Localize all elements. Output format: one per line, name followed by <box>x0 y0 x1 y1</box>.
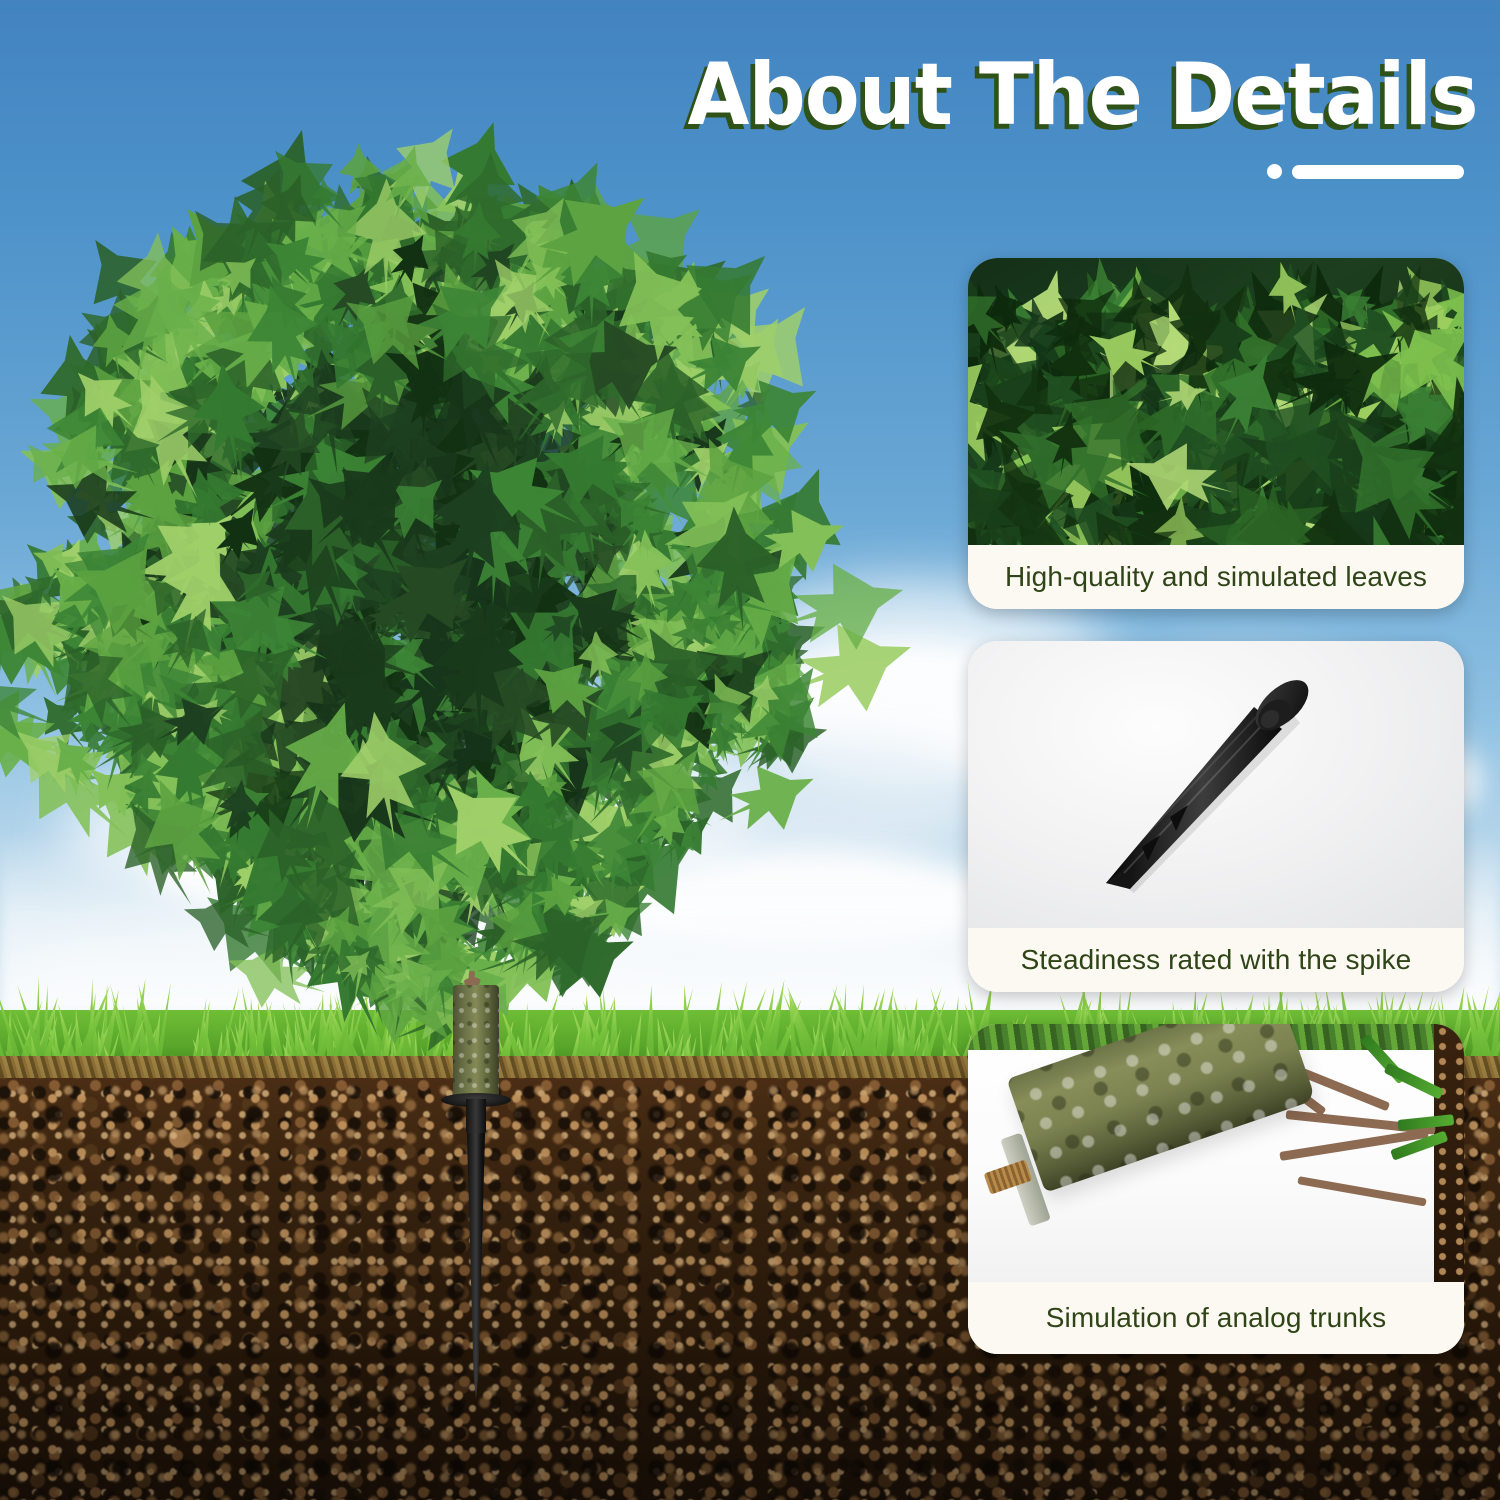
feature-caption-spike: Steadiness rated with the spike <box>968 928 1464 992</box>
feature-card-spike[interactable]: Steadiness rated with the spike <box>968 641 1464 992</box>
accent-dot-icon <box>1267 164 1282 179</box>
spike-top-band <box>466 1099 486 1133</box>
soil-strip <box>1434 1024 1464 1282</box>
feature-card-trunk[interactable]: Simulation of analog trunks <box>968 1024 1464 1354</box>
tree-canopy <box>20 120 820 1000</box>
spike-illustration <box>1086 667 1336 901</box>
foliage-sprig <box>216 778 263 845</box>
accent-bar-icon <box>1292 165 1464 179</box>
page-title: About The Details <box>688 52 1478 138</box>
title-accent <box>1267 164 1464 179</box>
foliage-sprig <box>185 358 273 477</box>
feature-card-list: High-quality and simulated leaves <box>968 258 1464 1386</box>
product-detail-infographic: About The Details High-quality and simul… <box>0 0 1500 1500</box>
foliage-macro-photo <box>968 258 1464 545</box>
spike-svg <box>1086 667 1336 907</box>
feature-caption-leaves: High-quality and simulated leaves <box>968 545 1464 609</box>
feature-card-leaves[interactable]: High-quality and simulated leaves <box>968 258 1464 609</box>
analog-trunk-macro-photo <box>968 1024 1464 1282</box>
hero-tree <box>20 120 820 1020</box>
tree-trunk-and-spike <box>435 975 515 1095</box>
feature-caption-trunk: Simulation of analog trunks <box>968 1282 1464 1354</box>
ground-spike-photo <box>968 641 1464 928</box>
leaf-needle <box>1235 483 1311 545</box>
trunk-sleeve <box>453 985 499 1097</box>
